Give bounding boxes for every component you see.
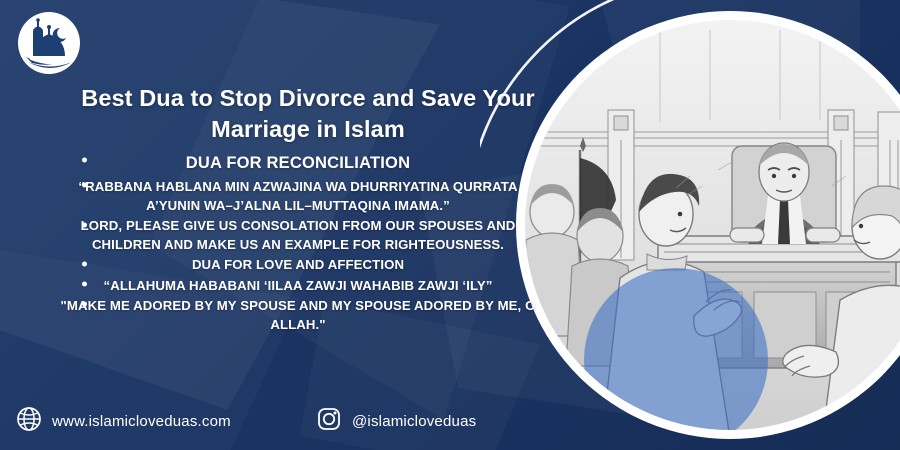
list-item-label: “RABBANA HABLANA MIN AZWAJINA WA DHURRIY… (48, 177, 548, 215)
instagram-label: @islamicloveduas (352, 413, 476, 430)
website-label: www.islamicloveduas.com (52, 413, 231, 430)
list-item: "MAKE ME ADORED BY MY SPOUSE AND MY SPOU… (48, 296, 548, 334)
dua-list: DUA FOR RECONCILIATION “RABBANA HABLANA … (48, 152, 548, 335)
page-title-line2: Marriage in Islam (211, 116, 405, 142)
list-item: “ALLAHUMA HABABANI ‘IILAA ZAWJI WAHABIB … (48, 276, 548, 295)
mosque-dome-crescent-logo (16, 10, 82, 76)
bullet-dot-icon (82, 158, 87, 163)
list-item: DUA FOR LOVE AND AFFECTION (48, 255, 548, 274)
list-item-label: “ALLAHUMA HABABANI ‘IILAA ZAWJI WAHABIB … (48, 276, 548, 295)
bullet-dot-icon (82, 281, 87, 286)
list-item-label: LORD, PLEASE GIVE US CONSOLATION FROM OU… (48, 216, 548, 254)
bullet-dot-icon (82, 302, 87, 307)
website-link[interactable]: www.islamicloveduas.com (16, 406, 231, 436)
list-item-label: DUA FOR RECONCILIATION (48, 152, 548, 176)
list-item: LORD, PLEASE GIVE US CONSOLATION FROM OU… (48, 216, 548, 254)
list-item-label: DUA FOR LOVE AND AFFECTION (48, 255, 548, 274)
list-item: DUA FOR RECONCILIATION (48, 152, 548, 176)
instagram-link[interactable]: @islamicloveduas (316, 406, 476, 436)
bullet-dot-icon (82, 222, 87, 227)
page-title: Best Dua to Stop Divorce and Save Your M… (58, 83, 558, 145)
globe-icon (16, 406, 42, 436)
bullet-dot-icon (82, 183, 87, 188)
list-item: “RABBANA HABLANA MIN AZWAJINA WA DHURRIY… (48, 177, 548, 215)
poster: Best Dua to Stop Divorce and Save Your M… (0, 0, 900, 450)
list-item-label: "MAKE ME ADORED BY MY SPOUSE AND MY SPOU… (48, 296, 548, 334)
footer: www.islamicloveduas.com @islamicloveduas (0, 402, 560, 442)
bullet-dot-icon (82, 261, 87, 266)
page-title-line1: Best Dua to Stop Divorce and Save Your (81, 85, 534, 111)
instagram-icon (316, 406, 342, 436)
